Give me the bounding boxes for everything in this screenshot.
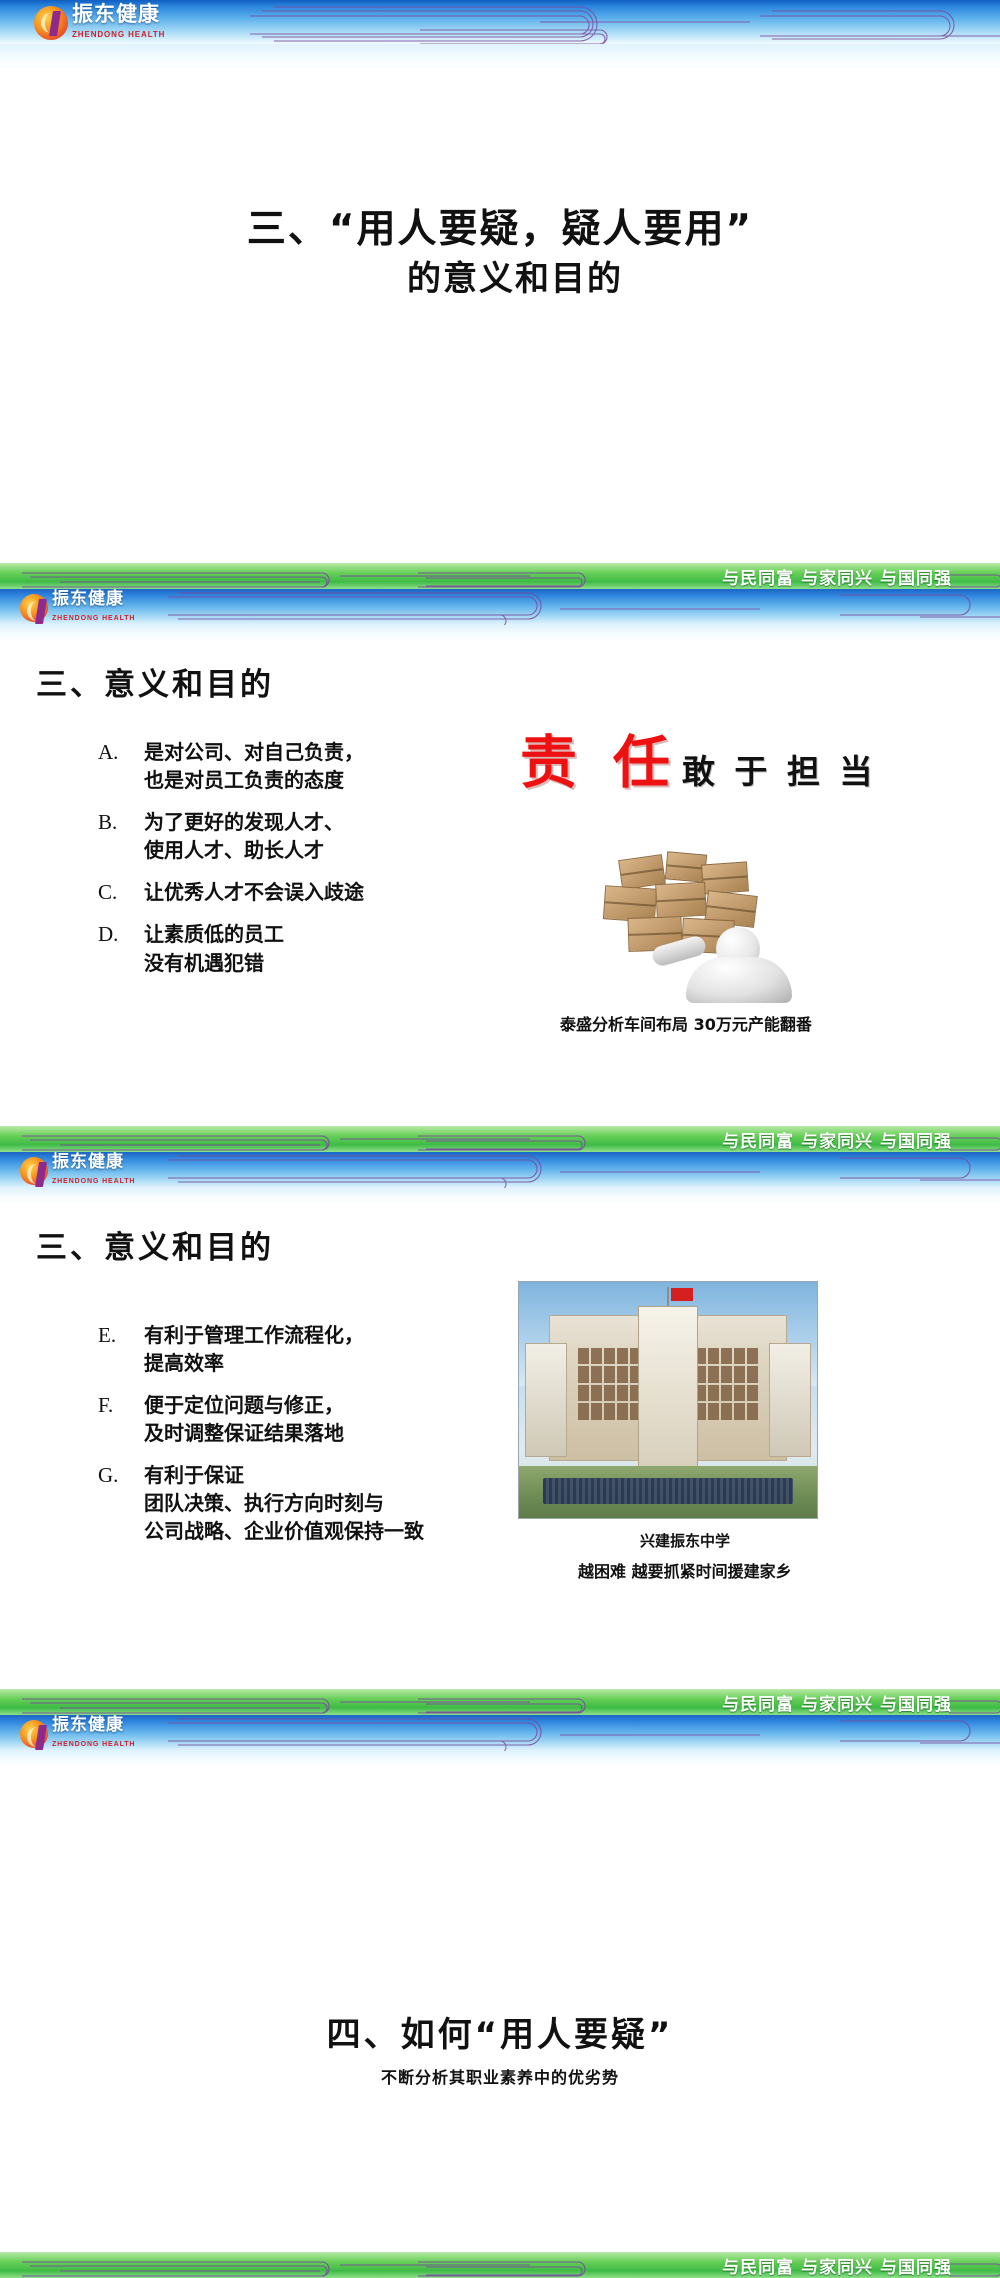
building-center-tower (638, 1306, 698, 1471)
logo-text: 振东健康 ZHENDONG HEALTH (52, 1717, 135, 1750)
brand-slogan: 与民同富 与家同兴 与国同强 (722, 564, 952, 589)
list-item-line: 团队决策、执行方向时刻与 (144, 1489, 424, 1517)
section-heading: 三、意义和目的 (36, 1222, 274, 1267)
logo-text: 振东健康 ZHENDONG HEALTH (72, 4, 165, 41)
list-item-line: 有利于保证 (144, 1461, 424, 1489)
list-item-line: 让优秀人才不会误入歧途 (144, 878, 364, 906)
list-item-line: 有利于管理工作流程化， (144, 1321, 364, 1349)
list-item: A. 是对公司、对自己负责， 也是对员工负责的态度 (98, 738, 528, 795)
school-photo (518, 1281, 818, 1519)
header-band-green: 与民同富 与家同兴 与国同强 (0, 1126, 1000, 1152)
decorative-loops-blue (0, 1715, 1000, 1751)
logo-icon (20, 594, 48, 622)
logo-name-en: ZHENDONG HEALTH (52, 1741, 135, 1748)
bullet-list: A. 是对公司、对自己负责， 也是对员工负责的态度 B. 为了更好的发现人才、 … (98, 738, 528, 990)
list-item-line: 没有机遇犯错 (144, 949, 284, 977)
brand-logo: 振东健康 ZHENDONG HEALTH (20, 1154, 135, 1187)
logo-name-cn: 振东健康 (52, 1152, 124, 1172)
list-item-marker: C. (98, 878, 144, 908)
list-item-text: 让优秀人才不会误入歧途 (144, 878, 364, 906)
header-band-blue (0, 1715, 1000, 1751)
logo-name-cn: 振东健康 (72, 2, 160, 26)
list-item: C. 让优秀人才不会误入歧途 (98, 878, 528, 908)
page-subtitle: 不断分析其职业素养中的优劣势 (0, 2064, 1000, 2088)
list-item-text: 有利于保证 团队决策、执行方向时刻与 公司战略、企业价值观保持一致 (144, 1461, 424, 1546)
list-item: G. 有利于保证 团队决策、执行方向时刻与 公司战略、企业价值观保持一致 (98, 1461, 528, 1546)
logo-name-en: ZHENDONG HEALTH (52, 615, 135, 622)
logo-icon (20, 1157, 48, 1185)
header-fade (0, 1751, 1000, 1767)
list-item-line: 公司战略、企业价值观保持一致 (144, 1517, 424, 1545)
footer-band-green: 与民同富 与家同兴 与国同强 (0, 2252, 1000, 2278)
image-caption: 泰盛分析车间布局 30万元产能翻番 (560, 1011, 812, 1035)
logo-text: 振东健康 ZHENDONG HEALTH (52, 1154, 135, 1187)
headline-black-text: 敢 于 担 当 (682, 755, 876, 792)
list-item-text: 便于定位问题与修正， 及时调整保证结果落地 (144, 1391, 344, 1448)
header-band-blue (0, 589, 1000, 625)
bullet-list: E. 有利于管理工作流程化， 提高效率 F. 便于定位问题与修正， 及时调整保证… (98, 1321, 528, 1559)
headline-red-text: 责 任 (520, 735, 678, 792)
header-fade (0, 1188, 1000, 1204)
logo-name-en: ZHENDONG HEALTH (52, 1178, 135, 1185)
list-item-line: 是对公司、对自己负责， (144, 738, 364, 766)
photo-caption-secondary: 越困难 越要抓紧时间援建家乡 (578, 1558, 792, 1582)
list-item: D. 让素质低的员工 没有机遇犯错 (98, 920, 528, 977)
brand-slogan: 与民同富 与家同兴 与国同强 (722, 2253, 952, 2278)
slide-cover: 振东健康 ZHENDONG HEALTH 三、“用人要疑，疑人要用” 的意义和目… (0, 0, 1000, 563)
list-item-line: 及时调整保证结果落地 (144, 1419, 344, 1447)
list-item: F. 便于定位问题与修正， 及时调整保证结果落地 (98, 1391, 528, 1448)
slide-meaning-eg: 与民同富 与家同兴 与国同强 振东健康 ZHENDONG HEALTH (0, 1126, 1000, 1689)
slide-deck: 振东健康 ZHENDONG HEALTH 三、“用人要疑，疑人要用” 的意义和目… (0, 0, 1000, 2278)
list-item-text: 让素质低的员工 没有机遇犯错 (144, 920, 284, 977)
person-body (686, 957, 792, 1003)
header-fade (0, 625, 1000, 641)
decorative-loops-blue (0, 589, 1000, 625)
brand-logo: 振东健康 ZHENDONG HEALTH (20, 1717, 135, 1750)
student-crowd (543, 1478, 793, 1504)
list-item-marker: G. (98, 1461, 144, 1491)
logo-text: 振东健康 ZHENDONG HEALTH (52, 591, 135, 624)
list-item-marker: F. (98, 1391, 144, 1421)
logo-name-cn: 振东健康 (52, 1715, 124, 1735)
slide-how-to: 与民同富 与家同兴 与国同强 振东健康 ZHENDONG HEALTH (0, 1689, 1000, 2252)
list-item-marker: B. (98, 808, 144, 838)
list-item-line: 便于定位问题与修正， (144, 1391, 344, 1419)
cover-title: 三、“用人要疑，疑人要用” 的意义和目的 (0, 205, 1000, 305)
slide-meaning-ad: 与民同富 与家同兴 与国同强 振东健康 ZHENDONG HEALTH (0, 563, 1000, 1126)
list-item-text: 为了更好的发现人才、 使用人才、助长人才 (144, 808, 344, 865)
header-band-green: 与民同富 与家同兴 与国同强 (0, 1689, 1000, 1715)
list-item-line: 提高效率 (144, 1349, 364, 1377)
logo-name-cn: 振东健康 (52, 589, 124, 609)
list-item-line: 也是对员工负责的态度 (144, 766, 364, 794)
list-item-line: 为了更好的发现人才、 (144, 808, 344, 836)
building-right-wing (769, 1343, 811, 1456)
list-item-marker: A. (98, 738, 144, 768)
list-item-text: 有利于管理工作流程化， 提高效率 (144, 1321, 364, 1378)
decorative-loops-blue (0, 1152, 1000, 1188)
logo-name-en: ZHENDONG HEALTH (72, 30, 165, 39)
header-band-green: 与民同富 与家同兴 与国同强 (0, 563, 1000, 589)
list-item-marker: D. (98, 920, 144, 950)
list-item-text: 是对公司、对自己负责， 也是对员工负责的态度 (144, 738, 364, 795)
header-band-blue (0, 1152, 1000, 1188)
list-item: E. 有利于管理工作流程化， 提高效率 (98, 1321, 528, 1378)
flag-icon (671, 1288, 693, 1301)
logo-icon (20, 1720, 48, 1748)
list-item-marker: E. (98, 1321, 144, 1351)
section-heading: 三、意义和目的 (36, 659, 274, 704)
photo-caption-primary: 兴建振东中学 (640, 1530, 730, 1551)
brand-logo: 振东健康 ZHENDONG HEALTH (34, 4, 165, 41)
brand-logo: 振东健康 ZHENDONG HEALTH (20, 591, 135, 624)
page-title: 四、如何“用人要疑” (0, 2007, 1000, 2056)
brand-slogan: 与民同富 与家同兴 与国同强 (722, 1127, 952, 1152)
building-left-wing (525, 1343, 567, 1456)
cardboard-boxes-illustration (590, 853, 810, 1003)
responsibility-headline: 责 任 敢 于 担 当 (520, 735, 876, 792)
header-fade (0, 44, 1000, 70)
list-item-line: 使用人才、助长人才 (144, 836, 344, 864)
cover-title-line-1: 三、“用人要疑，疑人要用” (0, 205, 1000, 254)
brand-slogan: 与民同富 与家同兴 与国同强 (722, 1690, 952, 1715)
list-item-line: 让素质低的员工 (144, 920, 284, 948)
list-item: B. 为了更好的发现人才、 使用人才、助长人才 (98, 808, 528, 865)
logo-icon (34, 6, 68, 40)
cover-title-line-2: 的意义和目的 (0, 254, 1000, 305)
